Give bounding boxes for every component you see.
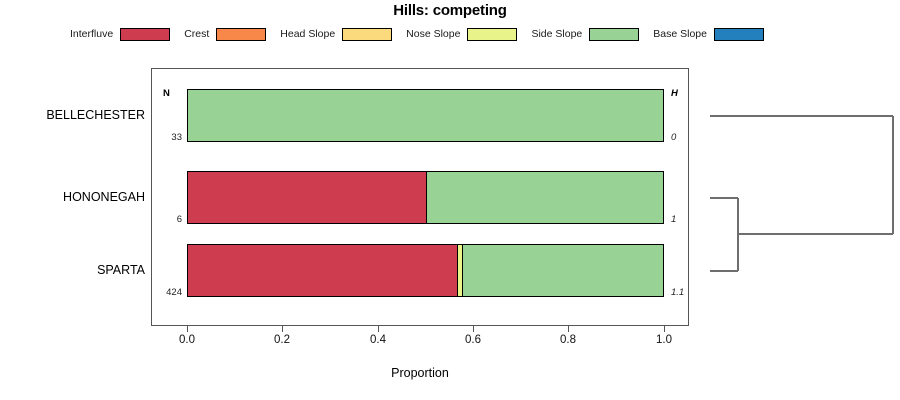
dendrogram-tree-icon [700,60,900,326]
chart-legend: Interfluve Crest Head Slope Nose Slope S… [70,25,830,43]
bar-segment-interfluve [188,245,457,296]
legend-label: Head Slope [280,28,335,40]
h-value-hononegah: 1 [671,214,703,225]
column-header-n: N [163,88,170,99]
bar-segment-side-slope [462,245,663,296]
legend-swatch-icon [467,28,517,41]
legend-label: Interfluve [70,28,113,40]
x-tick-label: 0.2 [262,334,302,346]
legend-item-interfluve[interactable]: Interfluve [70,28,170,41]
page-title: Hills: competing [0,2,900,19]
n-value-bellechester: 33 [152,132,182,143]
chart-figure: Hills: competing Interfluve Crest Head S… [0,0,900,400]
legend-swatch-icon [589,28,639,41]
legend-swatch-icon [216,28,266,41]
legend-swatch-icon [342,28,392,41]
category-label-hononegah: HONONEGAH [5,190,145,204]
bar-segment-interfluve [188,172,426,223]
n-value-sparta: 424 [152,287,182,298]
bar-segment-side-slope [426,172,664,223]
bar-segment-side-slope [188,90,663,141]
legend-item-side-slope[interactable]: Side Slope [531,28,639,41]
legend-swatch-icon [120,28,170,41]
x-tick-mark [378,326,379,332]
legend-item-crest[interactable]: Crest [184,28,266,41]
h-value-sparta: 1.1 [671,287,703,298]
h-value-bellechester: 0 [671,132,703,143]
x-tick-mark [568,326,569,332]
bar-row[interactable] [187,171,664,224]
legend-label: Nose Slope [406,28,460,40]
legend-label: Base Slope [653,28,707,40]
column-header-h: H [671,88,678,99]
x-tick-mark [664,326,665,332]
legend-item-head-slope[interactable]: Head Slope [280,28,392,41]
legend-swatch-icon [714,28,764,41]
legend-item-nose-slope[interactable]: Nose Slope [406,28,517,41]
x-tick-mark [282,326,283,332]
legend-label: Crest [184,28,209,40]
x-tick-label: 0.4 [358,334,398,346]
x-tick-label: 0.6 [453,334,493,346]
category-label-sparta: SPARTA [5,263,145,277]
x-tick-mark [187,326,188,332]
dendrogram [700,60,900,326]
bar-row[interactable] [187,89,664,142]
category-label-bellechester: BELLECHESTER [5,108,145,122]
n-value-hononegah: 6 [152,214,182,225]
x-tick-label: 0.0 [167,334,207,346]
legend-label: Side Slope [531,28,582,40]
bar-row[interactable] [187,244,664,297]
x-tick-mark [473,326,474,332]
x-tick-label: 0.8 [548,334,588,346]
x-tick-label: 1.0 [644,334,684,346]
x-axis-title: Proportion [151,366,689,380]
legend-item-base-slope[interactable]: Base Slope [653,28,764,41]
